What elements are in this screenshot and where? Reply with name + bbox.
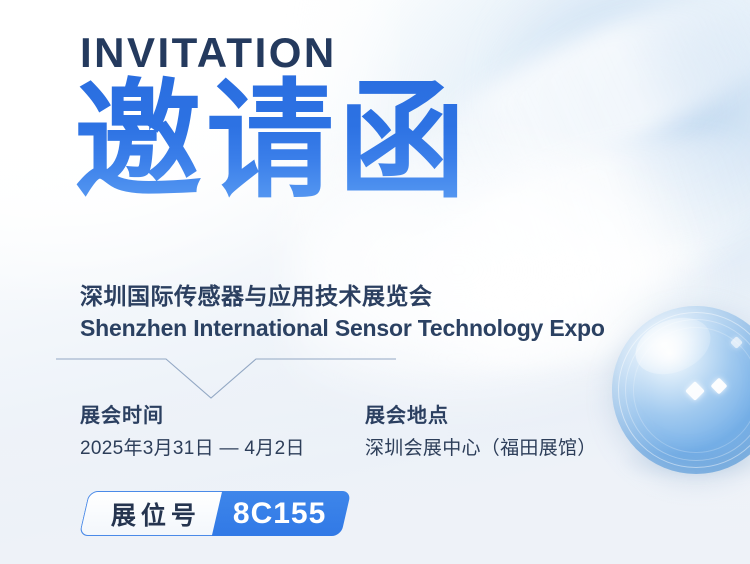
booth-label-text: 展位号 [111,496,201,532]
time-label: 展会时间 [80,404,305,429]
info-block-time: 展会时间 2025年3月31日 — 4月2日 [80,404,305,461]
expo-name-chinese: 深圳国际传感器与应用技术展览会 [80,277,433,311]
time-value: 2025年3月31日 — 4月2日 [80,437,305,461]
place-value: 深圳会展中心（福田展馆） [365,437,597,461]
v-notch-divider-icon [56,354,396,400]
divider-svg [56,354,396,400]
blue-glass-sphere-icon [612,306,750,474]
info-block-place: 展会地点 深圳会展中心（福田展馆） [365,404,597,461]
expo-name-english: Shenzhen International Sensor Technology… [80,315,605,342]
booth-number-badge: 展位号 8C155 [84,491,346,536]
headline-chinese: 邀请函 [74,75,470,209]
booth-number-text: 8C155 [233,497,326,531]
place-label: 展会地点 [365,404,597,429]
invitation-poster: INVITATION 邀请函 深圳国际传感器与应用技术展览会 Shenzhen … [0,0,750,564]
booth-number-chip: 8C155 [212,491,352,536]
booth-label-chip: 展位号 [79,491,224,536]
